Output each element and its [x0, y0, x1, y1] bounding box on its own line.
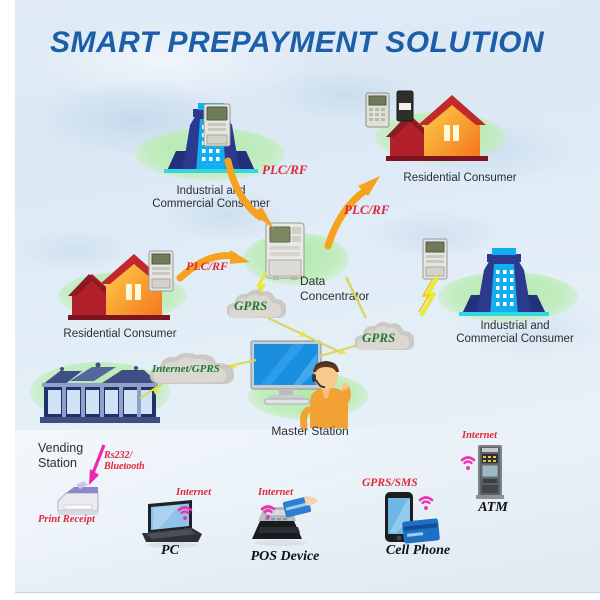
label-gprs-sms: GPRS/SMS [362, 478, 418, 489]
label-rs232-bluetooth: Rs232/ Bluetooth [104, 450, 145, 472]
label-line-1: Data [300, 274, 410, 289]
laptop-icon [134, 500, 206, 548]
wifi-icon [258, 501, 278, 518]
electric-meter-icon [365, 92, 390, 128]
label-residential-top: Residential Consumer [385, 172, 535, 185]
label-internet-atm: Internet [462, 430, 497, 441]
electric-meter-icon [203, 103, 231, 147]
headset-operator-icon [300, 358, 352, 428]
electric-meter-icon [148, 250, 174, 292]
label-plc-rf-3: PLC/RF [186, 261, 228, 272]
label-internet-gprs: Internet/GPRS [152, 363, 220, 375]
label-cell-phone: Cell Phone [368, 543, 468, 559]
label-atm: ATM [458, 500, 528, 516]
diagram-canvas: SMART PREPAYMENT SOLUTION [0, 0, 600, 600]
electric-meter-icon [422, 238, 448, 280]
label-line-1: Rs232/ [104, 450, 145, 461]
atm-machine-icon [474, 445, 508, 499]
label-line-1: Industrial and [440, 320, 590, 333]
label-industrial-right: Industrial and Commercial Consumer [440, 320, 590, 346]
label-line-2: Commercial Consumer [440, 333, 590, 346]
label-line-2: Bluetooth [104, 461, 145, 472]
wifi-icon [458, 452, 478, 469]
label-line-2: Concentrator [300, 289, 410, 304]
office-tower-icon [448, 232, 560, 316]
wifi-icon [416, 492, 436, 509]
page-title: SMART PREPAYMENT SOLUTION [50, 26, 544, 60]
label-master-station: Master Station [250, 425, 370, 438]
handheld-terminal-icon [396, 90, 414, 122]
label-print-receipt: Print Receipt [38, 514, 95, 525]
label-pc: PC [140, 543, 200, 559]
label-plc-rf-1: PLC/RF [262, 164, 308, 175]
pos-terminal-icon [244, 495, 320, 547]
label-residential-left: Residential Consumer [50, 328, 190, 341]
wifi-icon [175, 502, 195, 519]
label-internet-pos: Internet [258, 487, 293, 498]
label-data-concentrator: Data Concentrator [300, 274, 410, 304]
label-gprs-cloud-2: GPRS [362, 330, 395, 346]
vending-station-building-icon [36, 363, 162, 425]
label-internet-pc: Internet [176, 487, 211, 498]
label-pos-device: POS Device [240, 549, 330, 565]
label-plc-rf-2: PLC/RF [344, 204, 390, 215]
label-gprs-cloud-1: GPRS [234, 298, 267, 314]
